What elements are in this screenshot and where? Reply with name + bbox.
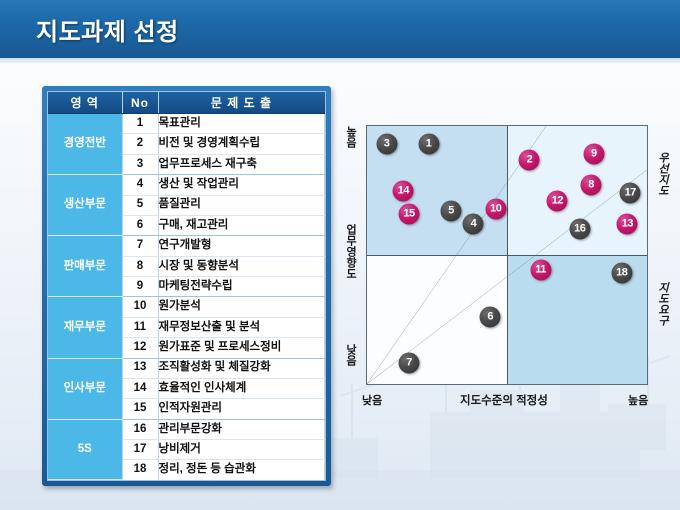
cell-area-1: 생산부문 (48, 175, 122, 236)
x-axis-tick-low: 낮음 (362, 392, 382, 408)
cell-problem: 정리, 정돈 등 습관화 (158, 460, 325, 480)
page-title: 지도과제 선정 (36, 12, 179, 47)
y-axis-tick-low: 낮음 (344, 344, 356, 366)
cell-problem: 원가분석 (158, 297, 325, 317)
x-axis-label: 지도수준의 적정성 (460, 392, 548, 408)
cell-problem: 조직활성화 및 체질강화 (158, 358, 325, 378)
cell-problem: 낭비제거 (158, 440, 325, 460)
table-row: 판매부문7연구개발형 (48, 236, 325, 256)
data-point-11: 11 (530, 260, 551, 281)
table-row: 재무부문10원가분석 (48, 297, 325, 317)
cell-no: 14 (122, 378, 158, 398)
data-point-4: 4 (463, 214, 484, 235)
data-point-8: 8 (581, 175, 602, 196)
cell-no: 18 (122, 460, 158, 480)
data-point-16: 16 (569, 219, 590, 240)
problem-list-table-container: 영 역 No 문 제 도 출 경영전반1목표관리2비전 및 경영계획수립3업무프… (47, 91, 326, 481)
column-header-no: No (122, 92, 158, 114)
data-point-3: 3 (376, 134, 397, 155)
cell-problem: 효율적인 인사체계 (158, 378, 325, 398)
data-point-9: 9 (583, 144, 604, 165)
cell-no: 8 (122, 256, 158, 276)
cell-problem: 품질관리 (158, 195, 325, 215)
cell-problem: 비전 및 경영계획수립 (158, 134, 325, 154)
data-point-14: 14 (393, 180, 414, 201)
table-body: 경영전반1목표관리2비전 및 경영계획수립3업무프로세스 재구축생산부문4생산 … (48, 114, 325, 480)
cell-area-2: 판매부문 (48, 236, 122, 297)
y-axis-label: 업무영향도 (344, 224, 356, 279)
cell-no: 2 (122, 134, 158, 154)
slide-canvas: 지도과제 선정 영 역 No 문 제 도 출 경영전반1목표관리2비전 및 경영… (0, 0, 680, 510)
cell-area-0: 경영전반 (48, 114, 122, 175)
cell-no: 1 (122, 114, 158, 134)
cell-no: 17 (122, 440, 158, 460)
table-header-row: 영 역 No 문 제 도 출 (48, 92, 325, 114)
data-point-13: 13 (617, 214, 638, 235)
data-point-1: 1 (418, 134, 439, 155)
cell-problem: 원가표준 및 프로세스정비 (158, 338, 325, 358)
cell-area-5: 5S (48, 419, 122, 479)
cell-problem: 목표관리 (158, 114, 325, 134)
data-point-18: 18 (611, 263, 632, 284)
table-row: 생산부문4생산 및 작업관리 (48, 175, 325, 195)
cell-no: 9 (122, 277, 158, 297)
cell-no: 11 (122, 317, 158, 337)
quadrant-label-priority-guidance: 우선지도 (656, 152, 668, 196)
cell-problem: 시장 및 동향분석 (158, 256, 325, 276)
data-point-17: 17 (620, 183, 641, 204)
data-point-12: 12 (547, 190, 568, 211)
cell-no: 3 (122, 154, 158, 174)
slide-title-bar: 지도과제 선정 (0, 0, 680, 58)
problem-list-table: 영 역 No 문 제 도 출 경영전반1목표관리2비전 및 경영계획수립3업무프… (48, 92, 325, 480)
horizontal-divider (367, 255, 647, 256)
data-point-7: 7 (399, 353, 420, 374)
cell-problem: 생산 및 작업관리 (158, 175, 325, 195)
cell-no: 13 (122, 358, 158, 378)
data-point-10: 10 (485, 198, 506, 219)
cell-problem: 인적자원관리 (158, 399, 325, 419)
cell-problem: 관리부문강화 (158, 419, 325, 439)
cell-no: 16 (122, 419, 158, 439)
table-row: 5S16관리부문강화 (48, 419, 325, 439)
data-point-2: 2 (519, 149, 540, 170)
data-point-5: 5 (441, 201, 462, 222)
cell-problem: 마케팅전략수립 (158, 277, 325, 297)
table-row: 인사부문13조직활성화 및 체질강화 (48, 358, 325, 378)
cell-no: 4 (122, 175, 158, 195)
cell-problem: 업무프로세스 재구축 (158, 154, 325, 174)
x-axis-tick-high: 높음 (628, 392, 648, 408)
y-axis-tick-high: 높음 (344, 126, 356, 148)
cell-problem: 연구개발형 (158, 236, 325, 256)
cell-no: 10 (122, 297, 158, 317)
cell-area-4: 인사부문 (48, 358, 122, 419)
cell-no: 12 (122, 338, 158, 358)
cell-no: 5 (122, 195, 158, 215)
cell-problem: 구매, 재고관리 (158, 215, 325, 235)
table-row: 경영전반1목표관리 (48, 114, 325, 134)
column-header-problem: 문 제 도 출 (158, 92, 325, 114)
column-header-area: 영 역 (48, 92, 122, 114)
quadrant-label-guidance-required: 지도요구 (656, 282, 668, 326)
data-point-15: 15 (399, 203, 420, 224)
priority-matrix-chart: 높음 업무영향도 낮음 낮음 지도수준의 적정성 높음 우선지도 지도요구 31… (340, 96, 676, 414)
data-point-6: 6 (480, 306, 501, 327)
cell-no: 7 (122, 236, 158, 256)
cell-no: 15 (122, 399, 158, 419)
plot-area: 312914817121551041613111867 (366, 125, 648, 385)
cell-no: 6 (122, 215, 158, 235)
cell-area-3: 재무부문 (48, 297, 122, 358)
cell-problem: 재무정보산출 및 분석 (158, 317, 325, 337)
problem-list-panel: 영 역 No 문 제 도 출 경영전반1목표관리2비전 및 경영계획수립3업무프… (42, 86, 331, 486)
